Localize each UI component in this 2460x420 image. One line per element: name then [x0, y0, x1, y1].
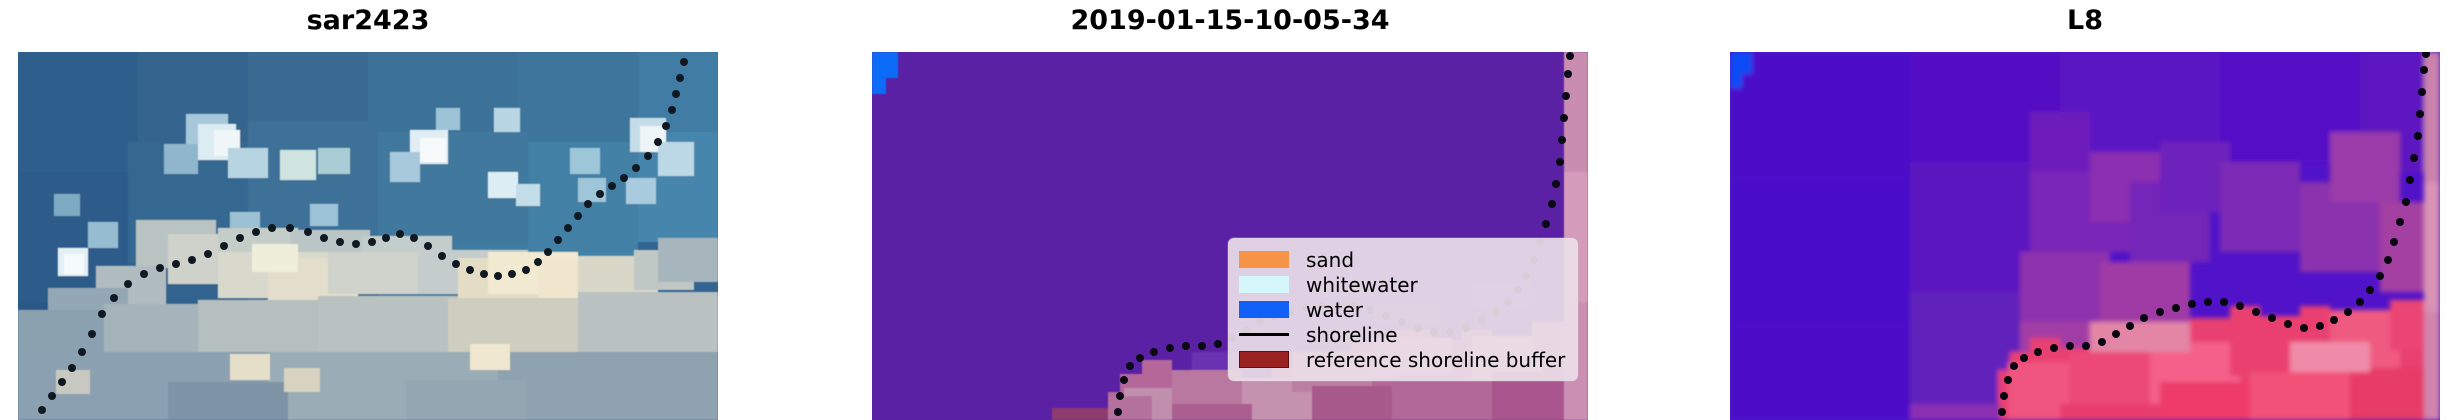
panel-sar[interactable]	[18, 52, 718, 420]
figure-canvas: sar2423	[0, 0, 2460, 420]
panel-title-l8: L8	[1730, 5, 2440, 36]
panel-title-sar: sar2423	[18, 5, 718, 36]
water-color-swatch	[1239, 301, 1289, 318]
legend-label-sand: sand	[1306, 250, 1354, 270]
legend-item-whitewater: whitewater	[1239, 272, 1566, 297]
legend-label-water: water	[1306, 300, 1363, 320]
axes-class: sand whitewater water shoreline referenc…	[872, 52, 1588, 420]
legend-item-shoreline: shoreline	[1239, 322, 1566, 347]
legend-item-reference-shoreline-buffer: reference shoreline buffer	[1239, 347, 1566, 372]
axes-sar	[18, 52, 718, 420]
whitewater-color-swatch	[1239, 276, 1289, 293]
panel-class[interactable]: sand whitewater water shoreline referenc…	[872, 52, 1588, 420]
sar-raster-image	[18, 52, 718, 420]
axes-l8	[1730, 52, 2440, 420]
legend-item-water: water	[1239, 297, 1566, 322]
panel-title-class: 2019-01-15-10-05-34	[872, 5, 1588, 36]
panel-l8[interactable]	[1730, 52, 2440, 420]
legend-label-shoreline: shoreline	[1306, 325, 1398, 345]
shoreline-line-swatch	[1239, 326, 1289, 343]
legend-label-reference-shoreline-buffer: reference shoreline buffer	[1306, 350, 1565, 370]
legend-item-sand: sand	[1239, 247, 1566, 272]
reference-buffer-color-swatch	[1239, 351, 1289, 368]
sand-color-swatch	[1239, 251, 1289, 268]
map-legend: sand whitewater water shoreline referenc…	[1228, 238, 1578, 381]
l8-raster-image	[1730, 52, 2440, 420]
legend-label-whitewater: whitewater	[1306, 275, 1418, 295]
